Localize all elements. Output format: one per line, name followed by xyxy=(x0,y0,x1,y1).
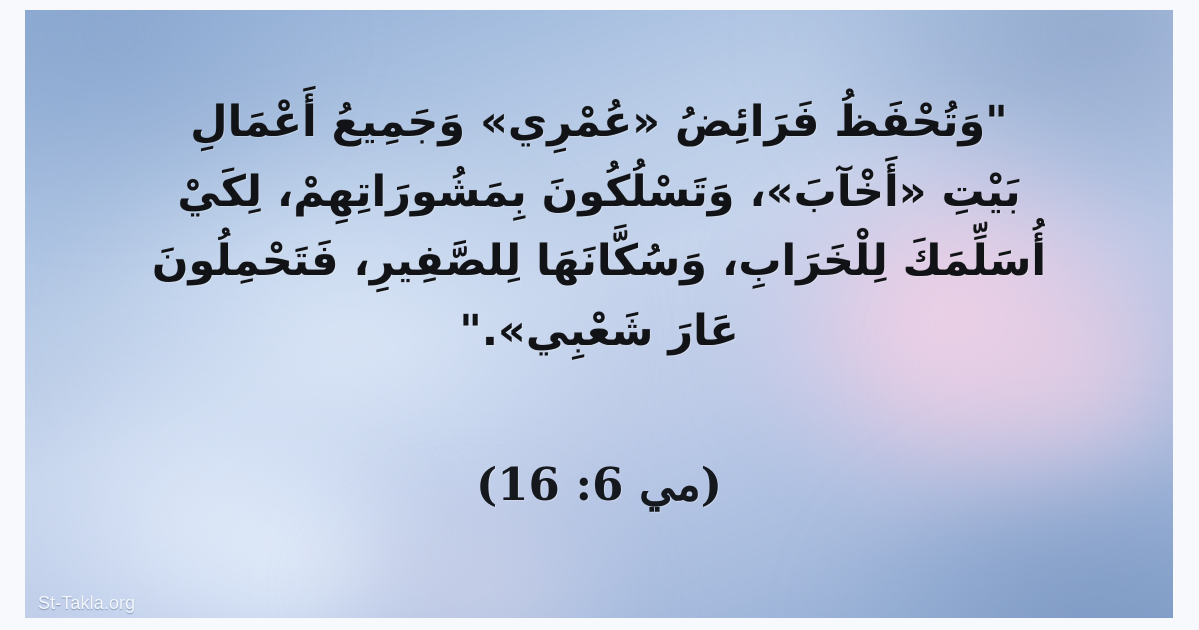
verse-line-3: أُسَلِّمَكَ لِلْخَرَابِ، وَسُكَّانَهَا ل… xyxy=(77,227,1121,297)
verse-image-canvas: "وَتُحْفَظُ فَرَائِضُ «عُمْرِي» وَجَمِيع… xyxy=(0,0,1199,630)
scripture-reference: (مي 6: 16) xyxy=(25,458,1173,511)
verse-text-block: "وَتُحْفَظُ فَرَائِضُ «عُمْرِي» وَجَمِيع… xyxy=(25,88,1173,367)
verse-line-4: عَارَ شَعْبِي»." xyxy=(77,297,1121,367)
site-watermark: St-Takla.org xyxy=(30,591,143,618)
background-photo-panel: "وَتُحْفَظُ فَرَائِضُ «عُمْرِي» وَجَمِيع… xyxy=(25,10,1173,618)
verse-line-1: "وَتُحْفَظُ فَرَائِضُ «عُمْرِي» وَجَمِيع… xyxy=(77,88,1121,158)
scripture-reference-text: (مي 6: 16) xyxy=(476,458,722,511)
verse-line-2: بَيْتِ «أَخْآبَ»، وَتَسْلُكُونَ بِمَشُور… xyxy=(77,158,1121,228)
